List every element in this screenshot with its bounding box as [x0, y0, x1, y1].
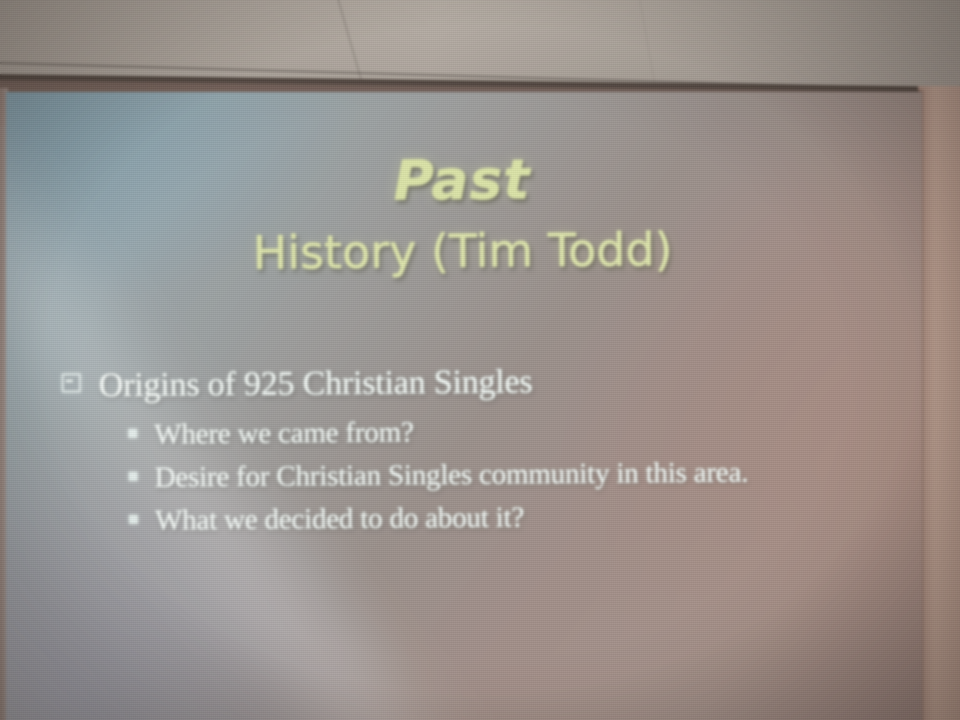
bullet-text: Origins of 925 Christian Singles [99, 363, 533, 405]
square-dot-bullet-icon [129, 515, 138, 524]
projection-screen: Past History (Tim Todd) Origins of 925 C… [6, 92, 922, 720]
square-outline-bullet-icon [62, 373, 81, 392]
bullet-text: Desire for Christian Singles community i… [154, 457, 748, 495]
slide-content: Past History (Tim Todd) Origins of 925 C… [6, 92, 922, 720]
bullet-text: What we decided to do about it? [155, 501, 524, 537]
square-dot-bullet-icon [128, 429, 137, 438]
projected-slide-photo: Past History (Tim Todd) Origins of 925 C… [0, 0, 960, 720]
slide-title: Past [6, 144, 920, 216]
bullet-item-level1: Origins of 925 Christian Singles [62, 360, 892, 405]
bullet-item-level2: Where we came from? [128, 412, 892, 452]
bullet-item-level2: What we decided to do about it? [129, 498, 893, 538]
right-wall [918, 86, 960, 720]
square-dot-bullet-icon [129, 472, 138, 481]
bullet-text: Where we came from? [154, 416, 414, 451]
slide-bullet-list: Origins of 925 Christian Singles Where w… [62, 360, 894, 548]
slide-subtitle: History (Tim Todd) [6, 220, 921, 282]
bullet-item-level2: Desire for Christian Singles community i… [128, 455, 892, 495]
